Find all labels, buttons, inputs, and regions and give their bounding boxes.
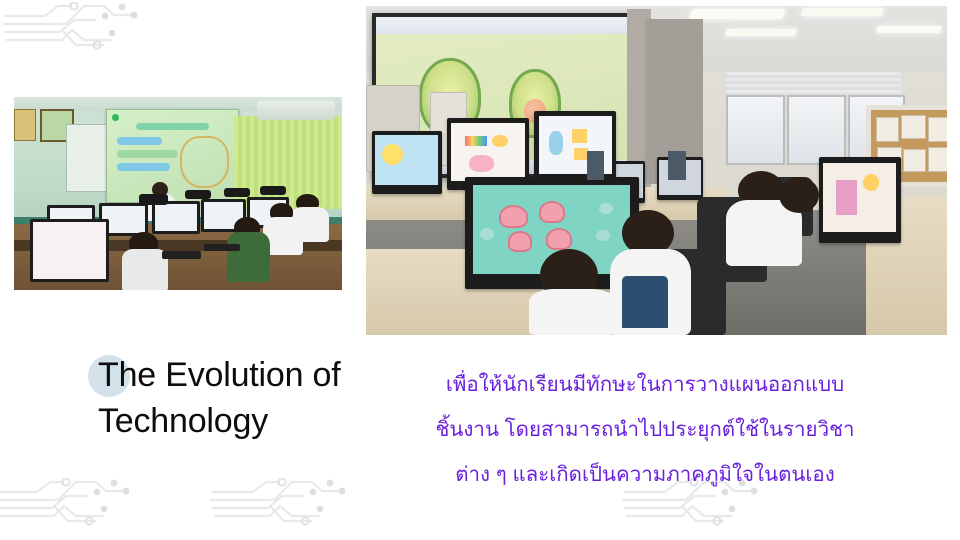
circuit-lines-top-left-icon (0, 2, 150, 62)
page-title: The Evolution of Technology (88, 352, 418, 444)
circuit-lines-bottom-middle-icon (208, 478, 358, 538)
slide-canvas: The Evolution of Technology เพื่อให้นักเ… (0, 0, 960, 540)
body-line-3: ต่าง ๆ และเกิดเป็นความภาคภูมิใจในตนเอง (410, 452, 880, 497)
page-title-line-1: The Evolution of (98, 356, 341, 394)
body-line-1: เพื่อให้นักเรียนมีทักษะในการวางแผนออกแบบ (410, 362, 880, 407)
page-title-line-2: Technology (98, 402, 268, 440)
circuit-lines-bottom-left-icon (0, 478, 142, 538)
body-paragraph: เพื่อให้นักเรียนมีทักษะในการวางแผนออกแบบ… (410, 362, 880, 497)
classroom-photo-left (14, 97, 342, 290)
classroom-photo-right (366, 6, 947, 335)
body-line-2: ชิ้นงาน โดยสามารถนำไปประยุกต์ใช้ในรายวิช… (410, 407, 880, 452)
